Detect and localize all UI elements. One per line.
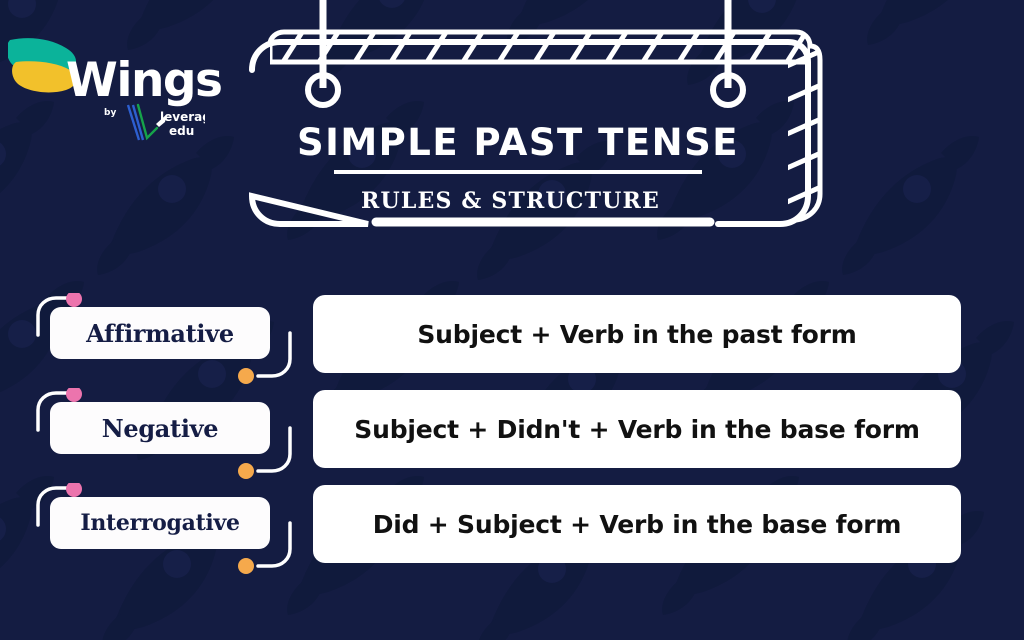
rule-row-negative: Negative Subject + Didn't + Verb in the … [0,388,1024,483]
sign-title: Simple Past Tense [248,124,788,161]
title-sign-banner: Simple Past Tense Rules & Structure [248,0,832,250]
rule-label-chip-negative[interactable]: Negative [50,402,270,454]
leverage-edu-logo-icon: leverage edu [125,102,205,146]
leverage-text: leverage [160,110,205,124]
rule-row-affirmative: Affirmative Subject + Verb in the past f… [0,293,1024,388]
rule-formula-text: Subject + Verb in the past form [417,320,856,349]
rule-formula-box-interrogative[interactable]: Did + Subject + Verb in the base form [313,485,961,563]
orange-dot-icon [238,463,254,479]
brand-logo[interactable]: Wings by leverage edu [8,32,208,147]
orange-dot-icon [238,368,254,384]
rule-label-text: Affirmative [86,319,234,348]
logo-by-label: by [104,108,116,118]
rule-formula-text: Did + Subject + Verb in the base form [373,510,902,539]
wings-wordmark: Wings [66,57,222,104]
orange-dot-icon [238,558,254,574]
rule-formula-box-affirmative[interactable]: Subject + Verb in the past form [313,295,961,373]
rule-label-text: Interrogative [80,510,239,536]
rule-label-text: Negative [102,414,219,443]
rule-label-chip-affirmative[interactable]: Affirmative [50,307,270,359]
sign-subtitle: Rules & Structure [248,190,773,212]
rule-formula-box-negative[interactable]: Subject + Didn't + Verb in the base form [313,390,961,468]
pink-dot-icon [66,293,82,307]
edu-text: edu [169,124,194,138]
pink-dot-icon [66,388,82,402]
rule-label-chip-interrogative[interactable]: Interrogative [50,497,270,549]
rule-row-interrogative: Interrogative Did + Subject + Verb in th… [0,483,1024,578]
pink-dot-icon [66,483,82,497]
rule-formula-text: Subject + Didn't + Verb in the base form [354,415,919,444]
sign-title-underline [334,170,702,174]
